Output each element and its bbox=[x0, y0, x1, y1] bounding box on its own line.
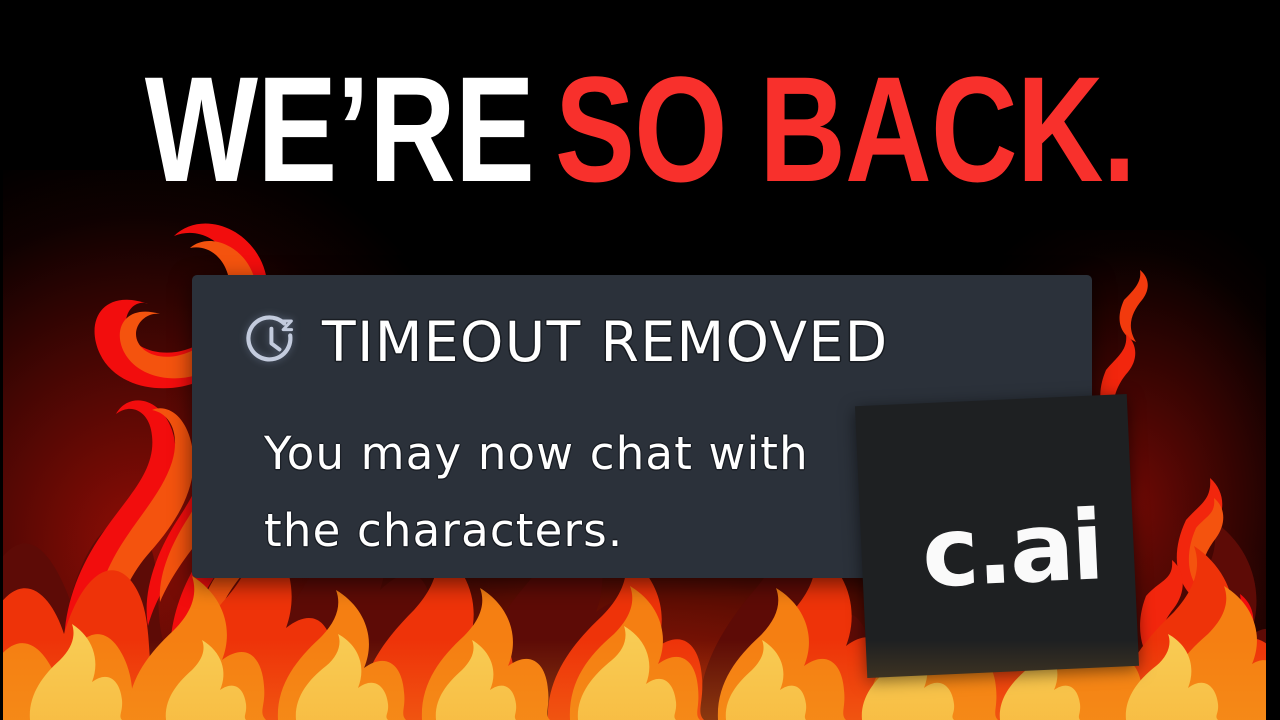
timer-snooze-icon bbox=[244, 314, 300, 370]
letterbox-left bbox=[0, 0, 3, 720]
notification-header: TIMEOUT REMOVED bbox=[244, 313, 889, 371]
notification-title: TIMEOUT REMOVED bbox=[322, 313, 889, 371]
headline: WE’RESO BACK. bbox=[128, 54, 1152, 204]
cai-logo-tile: c.ai bbox=[855, 394, 1139, 678]
headline-white-part: WE’RE bbox=[145, 45, 534, 213]
headline-red-part: SO BACK. bbox=[555, 45, 1135, 213]
cai-logo-text: c.ai bbox=[920, 497, 1103, 601]
thumbnail-canvas: WE’RESO BACK. TIMEOUT REMOVED You may no… bbox=[0, 0, 1280, 720]
letterbox-right bbox=[1266, 0, 1280, 720]
